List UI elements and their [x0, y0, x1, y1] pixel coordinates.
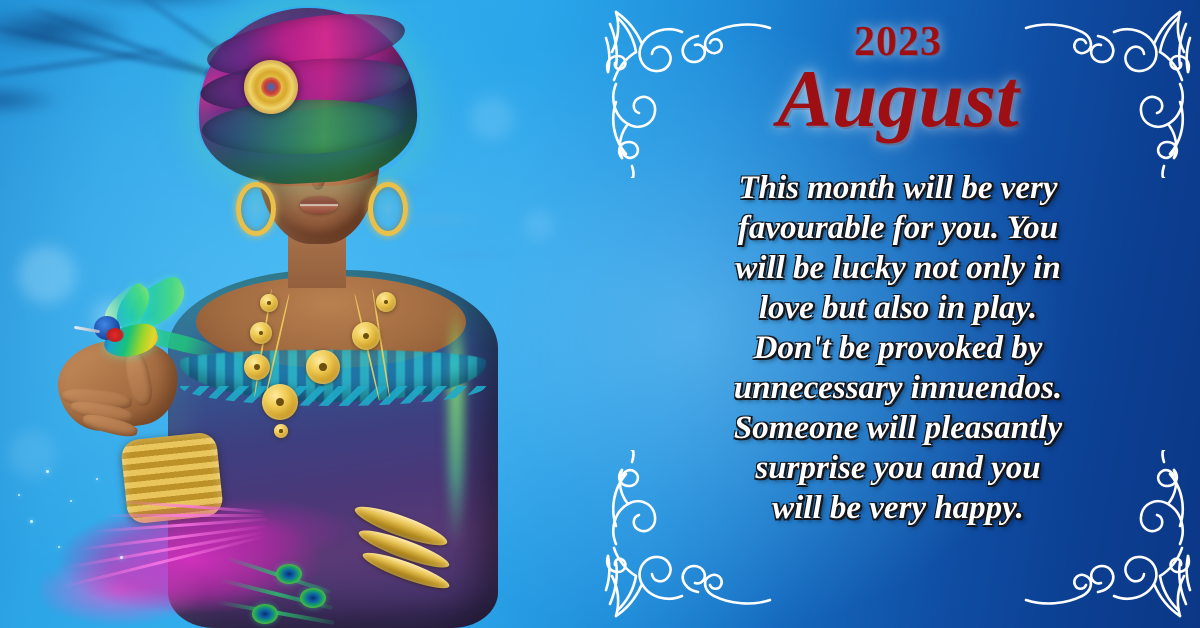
forecast-line: Someone will pleasantly: [640, 408, 1156, 448]
sparkle: [96, 478, 98, 480]
necklace-medallion: [376, 292, 396, 312]
hummingbird: [74, 278, 194, 382]
forecast-line: love but also in play.: [640, 288, 1156, 328]
necklace-medallion: [260, 294, 278, 312]
horoscope-card: 2023 August This month will be veryfavou…: [0, 0, 1200, 628]
sparkle: [58, 546, 60, 548]
feather-strand: [104, 514, 264, 517]
lips: [300, 196, 338, 214]
necklace-medallion: [250, 322, 272, 344]
earring-left: [236, 182, 276, 236]
necklace-medallion: [352, 322, 380, 350]
forecast-line: surprise you and you: [640, 448, 1156, 488]
forecast-line: This month will be very: [640, 168, 1156, 208]
peacock-eye-feather: [300, 588, 326, 608]
forecast-line: favourable for you. You: [640, 208, 1156, 248]
month-title: August: [596, 56, 1200, 142]
gold-necklace: [240, 288, 420, 428]
forecast-text: This month will be veryfavourable for yo…: [640, 168, 1156, 528]
woman-figure: [0, 0, 610, 628]
illustration-panel: [0, 0, 610, 628]
sparkle: [18, 494, 20, 496]
necklace-medallion: [306, 350, 340, 384]
forecast-line: will be very happy.: [640, 488, 1156, 528]
earring-right: [368, 182, 408, 236]
necklace-medallion: [262, 384, 298, 420]
forecast-panel: 2023 August This month will be veryfavou…: [596, 0, 1200, 628]
sparkle: [30, 520, 33, 523]
necklace-medallion: [244, 354, 270, 380]
sparkle: [46, 470, 49, 473]
sparkle: [120, 556, 123, 559]
rim-light: [448, 300, 464, 550]
necklace-pendant: [274, 424, 288, 438]
peacock-eye-feather: [276, 564, 302, 584]
peacock-eye-feather: [252, 604, 278, 624]
sparkle: [70, 500, 72, 502]
forecast-line: will be lucky not only in: [640, 248, 1156, 288]
forecast-line: Don't be provoked by: [640, 328, 1156, 368]
hummingbird-throat: [106, 328, 124, 342]
forecast-line: unnecessary innuendos.: [640, 368, 1156, 408]
